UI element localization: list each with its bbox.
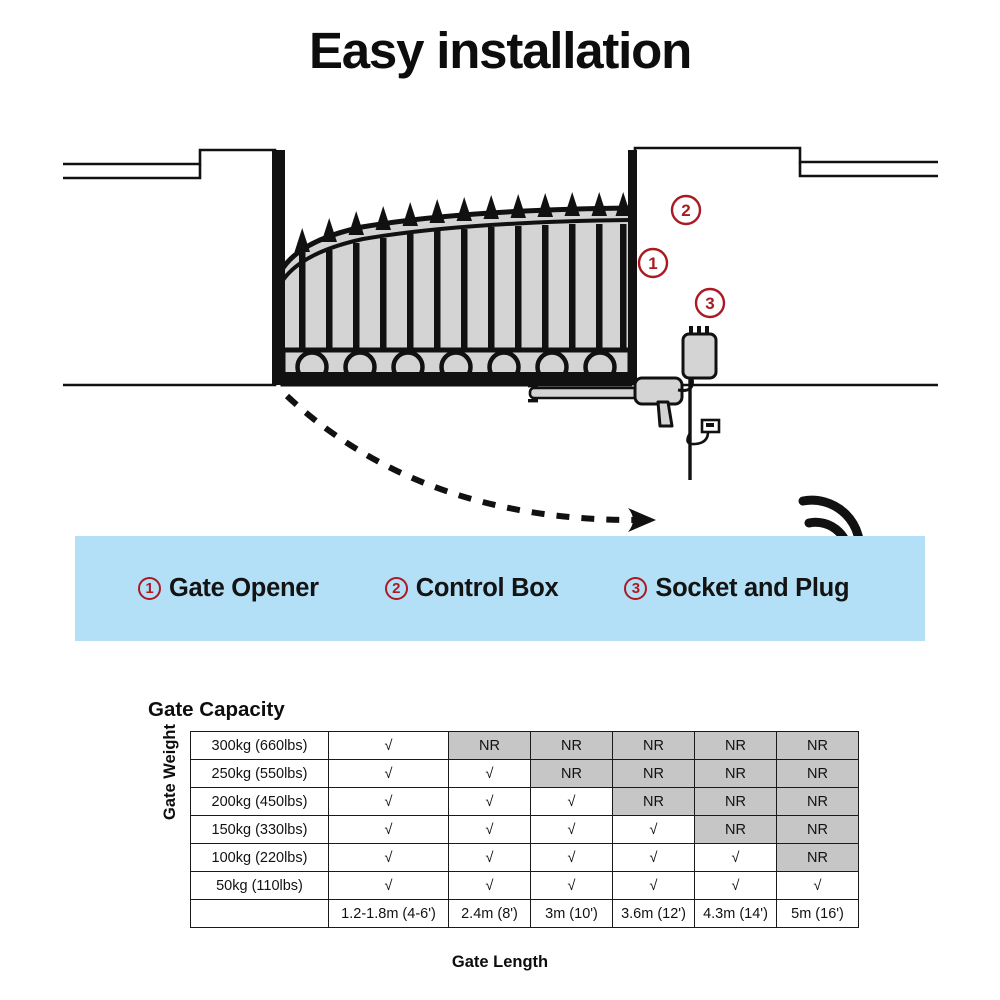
callout-3-socket-plug[interactable]: 3 [696,289,724,317]
gate-opener-motor [635,378,682,426]
row-header-gate-weight: 100kg (220lbs) [191,844,329,872]
cell-not-recommended: NR [777,732,859,760]
gate-length-axis-label: Gate Length [0,953,1000,972]
row-header-gate-weight: 250kg (550lbs) [191,760,329,788]
legend-label-control-box: Control Box [416,574,559,603]
table-row: 300kg (660lbs)√NRNRNRNRNR [191,732,859,760]
table-row: 50kg (110lbs)√√√√√√ [191,872,859,900]
table-row: 250kg (550lbs)√√NRNRNRNR [191,760,859,788]
cell-supported: √ [449,844,531,872]
right-wall [635,148,938,385]
cell-supported: √ [329,732,449,760]
column-header-gate-length: 5m (16') [777,900,859,928]
column-header-gate-length: 3m (10') [531,900,613,928]
cell-not-recommended: NR [777,788,859,816]
cell-supported: √ [531,816,613,844]
cell-supported: √ [531,844,613,872]
legend-item-control-box[interactable]: 2 Control Box [385,574,559,603]
cell-supported: √ [449,872,531,900]
cell-not-recommended: NR [777,816,859,844]
cell-not-recommended: NR [449,732,531,760]
cell-not-recommended: NR [695,732,777,760]
column-header-gate-length: 4.3m (14') [695,900,777,928]
column-header-gate-length: 2.4m (8') [449,900,531,928]
legend-number-2-icon: 2 [385,577,408,600]
cell-not-recommended: NR [695,788,777,816]
row-header-gate-weight: 150kg (330lbs) [191,816,329,844]
legend-band: 1 Gate Opener 2 Control Box 3 Socket and… [75,536,925,641]
table-row-column-labels: 1.2-1.8m (4-6')2.4m (8')3m (10')3.6m (12… [191,900,859,928]
gate-capacity-table-wrapper: 300kg (660lbs)√NRNRNRNRNR250kg (550lbs)√… [190,731,858,928]
callout-1-label: 1 [648,254,657,273]
legend-label-socket-and-plug: Socket and Plug [655,574,849,603]
signal-waves-icon [803,500,860,540]
gate-opener-arm [528,384,645,402]
legend-label-gate-opener: Gate Opener [169,574,319,603]
cell-supported: √ [329,788,449,816]
gate-capacity-table-body: 300kg (660lbs)√NRNRNRNRNR250kg (550lbs)√… [191,732,859,928]
table-row: 150kg (330lbs)√√√√NRNR [191,816,859,844]
legend-item-gate-opener[interactable]: 1 Gate Opener [138,574,319,603]
cell-supported: √ [449,816,531,844]
control-box [683,326,716,378]
gate-weight-axis-label: Gate Weight [161,697,185,847]
row-header-gate-weight: 50kg (110lbs) [191,872,329,900]
callout-2-label: 2 [681,201,690,220]
cell-supported: √ [329,760,449,788]
legend-items: 1 Gate Opener 2 Control Box 3 Socket and… [75,536,925,641]
page-title: Easy installation [0,24,1000,78]
table-row: 100kg (220lbs)√√√√√NR [191,844,859,872]
left-wall [63,150,275,385]
cell-not-recommended: NR [695,760,777,788]
cell-supported: √ [695,872,777,900]
remote-control-in-hand [794,500,911,540]
table-corner-cell [191,900,329,928]
cell-supported: √ [449,760,531,788]
cell-supported: √ [613,816,695,844]
cell-supported: √ [329,816,449,844]
callout-2-control-box[interactable]: 2 [672,196,700,224]
gate-swing-arc-arrow [287,396,656,532]
cell-not-recommended: NR [613,788,695,816]
table-row: 200kg (450lbs)√√√NRNRNR [191,788,859,816]
cell-not-recommended: NR [777,844,859,872]
cell-not-recommended: NR [695,816,777,844]
legend-number-3-icon: 3 [624,577,647,600]
column-header-gate-length: 1.2-1.8m (4-6') [329,900,449,928]
column-header-gate-length: 3.6m (12') [613,900,695,928]
cell-not-recommended: NR [613,760,695,788]
cell-not-recommended: NR [777,760,859,788]
cell-not-recommended: NR [613,732,695,760]
cell-supported: √ [613,844,695,872]
cell-not-recommended: NR [531,760,613,788]
cell-supported: √ [695,844,777,872]
cell-supported: √ [329,844,449,872]
gate-capacity-table: 300kg (660lbs)√NRNRNRNRNR250kg (550lbs)√… [190,731,859,928]
legend-item-socket-and-plug[interactable]: 3 Socket and Plug [624,574,849,603]
cell-supported: √ [777,872,859,900]
callout-1-gate-opener[interactable]: 1 [639,249,667,277]
cell-supported: √ [531,788,613,816]
cell-supported: √ [531,872,613,900]
cell-supported: √ [613,872,695,900]
row-header-gate-weight: 300kg (660lbs) [191,732,329,760]
installation-diagram: 1 2 3 [0,100,1000,540]
callout-3-label: 3 [705,294,714,313]
cell-supported: √ [449,788,531,816]
cell-supported: √ [329,872,449,900]
legend-number-1-icon: 1 [138,577,161,600]
installation-diagram-svg: 1 2 3 [0,100,1000,540]
gate-panel [272,150,637,385]
socket-and-plug [702,420,719,432]
row-header-gate-weight: 200kg (450lbs) [191,788,329,816]
cell-not-recommended: NR [531,732,613,760]
